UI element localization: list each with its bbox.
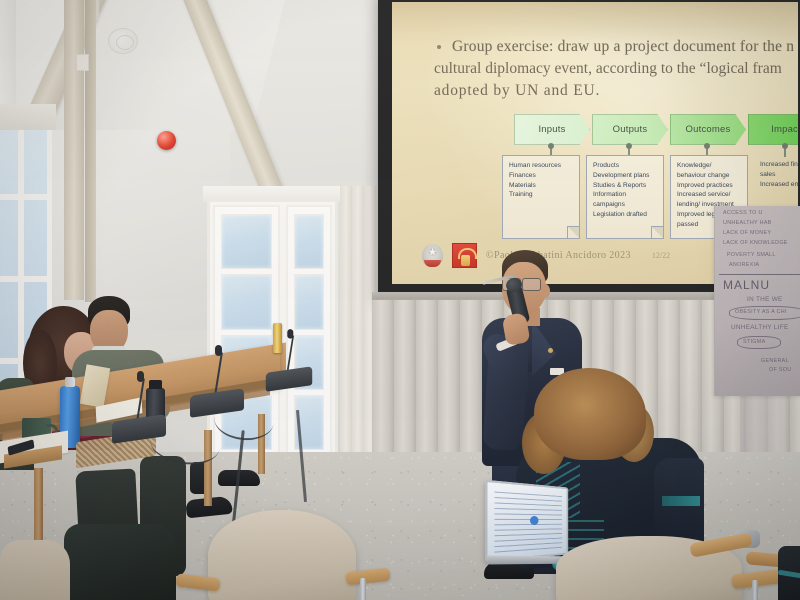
flipchart-bubble-text: OBESITY AS A CHI <box>735 309 787 315</box>
flipchart-line: ACCESS TO U <box>723 210 763 216</box>
slide-bullet-line-2: cultural diplomacy event, according to t… <box>434 58 798 80</box>
wall-box <box>76 54 89 71</box>
mic-capsule-icon <box>137 371 144 382</box>
note-item: Knowledge/ behaviour change <box>677 161 742 181</box>
conference-room-photo: Group exercise: draw up a project docume… <box>0 0 800 600</box>
flipchart-subtitle: IN THE WE <box>747 296 783 303</box>
wall-cable <box>96 0 99 20</box>
note-item: Increased employment <box>760 180 798 190</box>
door-pane <box>221 214 272 269</box>
window-mullion <box>0 276 52 282</box>
mic-capsule-icon <box>287 329 293 338</box>
flipchart-line: LACK OF KNOWLEDGE <box>723 240 788 246</box>
flipchart-line: UNHEALTHY HAB <box>723 220 772 226</box>
flipchart-stand <box>740 396 782 454</box>
flipchart-line: POVERTY SMALL <box>727 252 776 258</box>
sleeve-trim <box>662 496 700 506</box>
flipchart-bubble-text: GENERAL <box>761 358 789 364</box>
chair-foreground-left[interactable] <box>0 540 70 600</box>
chair-right-edge[interactable] <box>690 524 800 600</box>
hair <box>534 368 646 460</box>
slide-bullet-line-3: adopted by UN and EU. <box>434 80 798 102</box>
lapel-pin-icon <box>548 348 553 353</box>
note-item: Training <box>509 190 574 200</box>
note-item: Studies & Reports <box>593 181 658 191</box>
flipchart-bubble-text: OF SOU <box>769 367 791 373</box>
chair-post <box>360 578 366 600</box>
process-chevron-row: Inputs Outputs Outcomes Impact <box>514 114 798 145</box>
flipchart-board: ACCESS TO U UNHEALTHY HAB LACK OF MONEY … <box>714 206 800 396</box>
smoke-detector-icon <box>108 28 138 54</box>
italian-republic-emblem-icon <box>422 244 443 267</box>
vertical-post <box>64 0 84 300</box>
chevron-impact: Impact <box>748 114 798 145</box>
laptop-screen-accent <box>530 516 538 525</box>
window-mullion <box>0 194 52 200</box>
vertical-post-shadow <box>85 0 96 302</box>
note-item: Increased financing/ sales <box>760 160 798 180</box>
flipchart-bubble-text: UNHEALTHY LIFE <box>731 324 789 331</box>
slide-page-number: 12/22 <box>652 251 670 260</box>
window-blind <box>0 104 56 130</box>
slide-text-block: Group exercise: draw up a project docume… <box>434 36 798 102</box>
note-item: Legislation drafted <box>593 210 658 220</box>
flipchart-line: ANOREXIA <box>729 262 759 268</box>
door-pane <box>294 274 324 329</box>
note-item: Human resources <box>509 161 574 171</box>
chair-armrest <box>689 532 753 558</box>
laptop-screen-content <box>494 489 561 552</box>
conference-microphone[interactable] <box>266 370 312 389</box>
flipchart-bubble-text: STIGMA <box>743 339 765 345</box>
chair-foreground-center[interactable] <box>200 510 362 600</box>
note-item: Products <box>593 161 658 171</box>
door-pane <box>221 274 272 329</box>
door-pane <box>294 214 324 269</box>
bag <box>64 524 176 600</box>
note-card-outputs: Products Development plans Studies & Rep… <box>586 155 664 239</box>
mic-capsule-icon <box>215 345 222 356</box>
flipchart-divider <box>719 274 800 275</box>
chevron-outcomes: Outcomes <box>670 114 746 145</box>
red-alarm-light-icon <box>157 131 176 150</box>
note-item: Finances <box>509 171 574 181</box>
note-item: Materials <box>509 181 574 191</box>
mic-base <box>266 366 312 391</box>
chevron-outputs: Outputs <box>592 114 668 145</box>
note-item: Improved practices <box>677 181 742 191</box>
note-item: Development plans <box>593 171 658 181</box>
note-card-inputs: Human resources Finances Materials Train… <box>502 155 580 239</box>
chevron-inputs: Inputs <box>514 114 590 145</box>
flipchart-line: LACK OF MONEY <box>723 230 771 236</box>
flipchart-title: MALNU <box>723 278 770 292</box>
chair-backrest <box>208 510 356 600</box>
slide-bullet-line-1: Group exercise: draw up a project docume… <box>434 36 798 58</box>
note-item: Information campaigns <box>593 190 658 210</box>
door-handle-icon[interactable] <box>273 323 282 353</box>
